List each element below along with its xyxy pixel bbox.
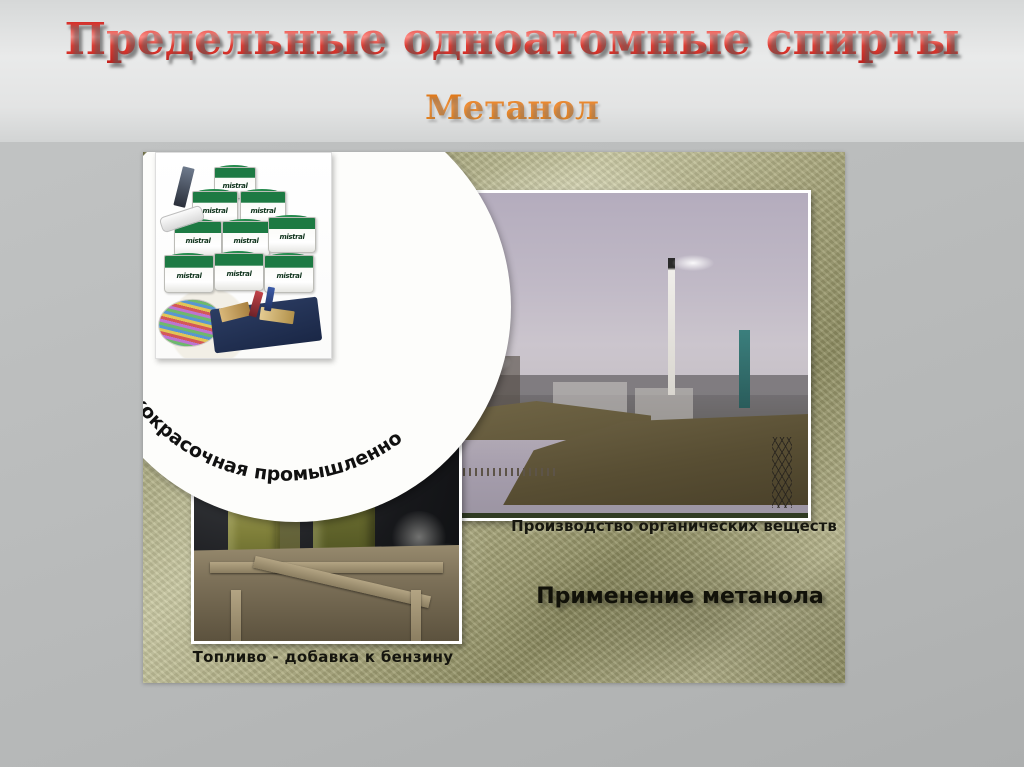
bench-leg	[231, 590, 241, 641]
cooling-tower	[739, 330, 750, 408]
slide-page: Предельные одноатомные спирты Предельные…	[0, 0, 1024, 767]
bench-plank	[210, 562, 443, 573]
slide-content-panel: Лакокрасочная промышленность Производств…	[143, 152, 845, 683]
smoke-plume	[672, 255, 714, 271]
paint-can	[214, 253, 264, 291]
smokestack-white	[668, 258, 675, 395]
power-pylon	[772, 437, 792, 509]
bench-leg	[411, 590, 421, 641]
paint-can	[268, 217, 316, 253]
title-area: Предельные одноатомные спирты Предельные…	[0, 0, 1024, 142]
organic-production-caption: Производство органических веществ	[503, 517, 845, 535]
paint-cans-photo	[155, 152, 332, 359]
fuel-additive-caption: Топливо - добавка к бензину	[163, 648, 483, 666]
page-title: Предельные одноатомные спирты	[0, 14, 1024, 65]
page-subtitle: Метанол	[0, 88, 1024, 128]
paint-can	[164, 255, 214, 293]
methanol-usage-heading: Применение метанола	[515, 584, 845, 609]
